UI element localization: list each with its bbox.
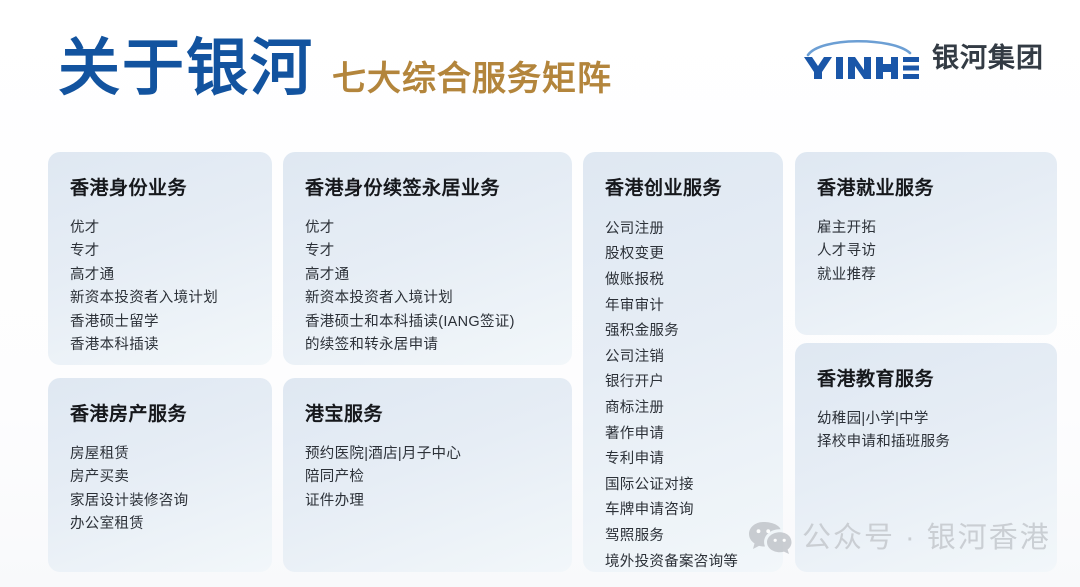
list-item: 证件办理 (305, 490, 550, 514)
list-item: 陪同产检 (305, 466, 550, 490)
list-item: 幼稚园|小学|中学 (817, 408, 1035, 432)
card-title: 香港身份业务 (70, 178, 250, 201)
card-hk-employment: 香港就业服务 雇主开拓 人才寻访 就业推荐 (795, 152, 1057, 335)
list-item: 年审审计 (605, 294, 761, 320)
list-item: 商标注册 (605, 396, 761, 422)
list-item: 专才 (305, 240, 550, 264)
list-item: 国际公证对接 (605, 473, 761, 499)
list-item: 就业推荐 (817, 264, 1035, 288)
card-service-list: 优才 专才 高才通 新资本投资者入境计划 香港硕士留学 香港本科插读 (70, 217, 250, 358)
list-item: 预约医院|酒店|月子中心 (305, 443, 550, 467)
list-item: 股权变更 (605, 242, 761, 268)
card-service-list: 幼稚园|小学|中学 择校申请和插班服务 (817, 408, 1035, 455)
yinhe-logomark-icon (802, 35, 920, 81)
card-title: 香港房产服务 (70, 404, 250, 427)
list-item: 的续签和转永居申请 (305, 334, 550, 358)
list-item: 房屋租赁 (70, 443, 250, 467)
list-item: 银行开户 (605, 370, 761, 396)
card-service-list: 雇主开拓 人才寻访 就业推荐 (817, 217, 1035, 288)
card-hk-identity-renewal: 香港身份续签永居业务 优才 专才 高才通 新资本投资者入境计划 香港硕士和本科插… (283, 152, 572, 365)
list-item: 著作申请 (605, 422, 761, 448)
watermark-label: 公众号 · 银河香港 (802, 524, 1051, 553)
card-service-list: 优才 专才 高才通 新资本投资者入境计划 香港硕士和本科插读(IANG签证) 的… (305, 217, 550, 358)
list-item: 强积金服务 (605, 319, 761, 345)
card-hk-baby: 港宝服务 预约医院|酒店|月子中心 陪同产检 证件办理 (283, 378, 572, 572)
card-hk-property: 香港房产服务 房屋租赁 房产买卖 家居设计装修咨询 办公室租赁 (48, 378, 272, 572)
page-title-subtitle: 七大综合服务矩阵 (332, 62, 612, 96)
list-item: 香港本科插读 (70, 334, 250, 358)
brand-name-label: 银河集团 (932, 45, 1044, 72)
page-title: 关于银河 七大综合服务矩阵 (58, 38, 612, 100)
list-item: 办公室租赁 (70, 513, 250, 537)
wechat-icon (748, 519, 792, 557)
list-item: 房产买卖 (70, 466, 250, 490)
list-item: 人才寻访 (817, 240, 1035, 264)
list-item: 车牌申请咨询 (605, 498, 761, 524)
list-item: 高才通 (305, 264, 550, 288)
card-hk-startup: 香港创业服务 公司注册 股权变更 做账报税 年审审计 强积金服务 公司注销 银行… (583, 152, 783, 572)
list-item: 香港硕士和本科插读(IANG签证) (305, 311, 550, 335)
list-item: 优才 (305, 217, 550, 241)
list-item: 公司注销 (605, 345, 761, 371)
list-item: 驾照服务 (605, 524, 761, 550)
card-hk-identity: 香港身份业务 优才 专才 高才通 新资本投资者入境计划 香港硕士留学 香港本科插… (48, 152, 272, 365)
list-item: 境外投资备案咨询等 (605, 550, 761, 576)
card-title: 香港就业服务 (817, 178, 1035, 201)
list-item: 做账报税 (605, 268, 761, 294)
list-item: 择校申请和插班服务 (817, 431, 1035, 455)
list-item: 专才 (70, 240, 250, 264)
list-item: 新资本投资者入境计划 (70, 287, 250, 311)
list-item: 雇主开拓 (817, 217, 1035, 241)
card-service-list: 公司注册 股权变更 做账报税 年审审计 强积金服务 公司注销 银行开户 商标注册… (605, 217, 761, 575)
list-item: 新资本投资者入境计划 (305, 287, 550, 311)
watermark: 公众号 · 银河香港 (748, 519, 1051, 557)
list-item: 香港硕士留学 (70, 311, 250, 335)
card-service-list: 房屋租赁 房产买卖 家居设计装修咨询 办公室租赁 (70, 443, 250, 537)
card-title: 港宝服务 (305, 404, 550, 427)
list-item: 公司注册 (605, 217, 761, 243)
slide: 关于银河 七大综合服务矩阵 (0, 0, 1080, 587)
list-item: 专利申请 (605, 447, 761, 473)
card-title: 香港创业服务 (605, 178, 761, 201)
page-title-main: 关于银河 (58, 38, 314, 100)
slide-header: 关于银河 七大综合服务矩阵 (0, 0, 1080, 145)
list-item: 高才通 (70, 264, 250, 288)
list-item: 家居设计装修咨询 (70, 490, 250, 514)
card-title: 香港教育服务 (817, 369, 1035, 392)
card-service-list: 预约医院|酒店|月子中心 陪同产检 证件办理 (305, 443, 550, 514)
card-title: 香港身份续签永居业务 (305, 178, 550, 201)
list-item: 优才 (70, 217, 250, 241)
brand-logo: 银河集团 (802, 34, 1044, 82)
